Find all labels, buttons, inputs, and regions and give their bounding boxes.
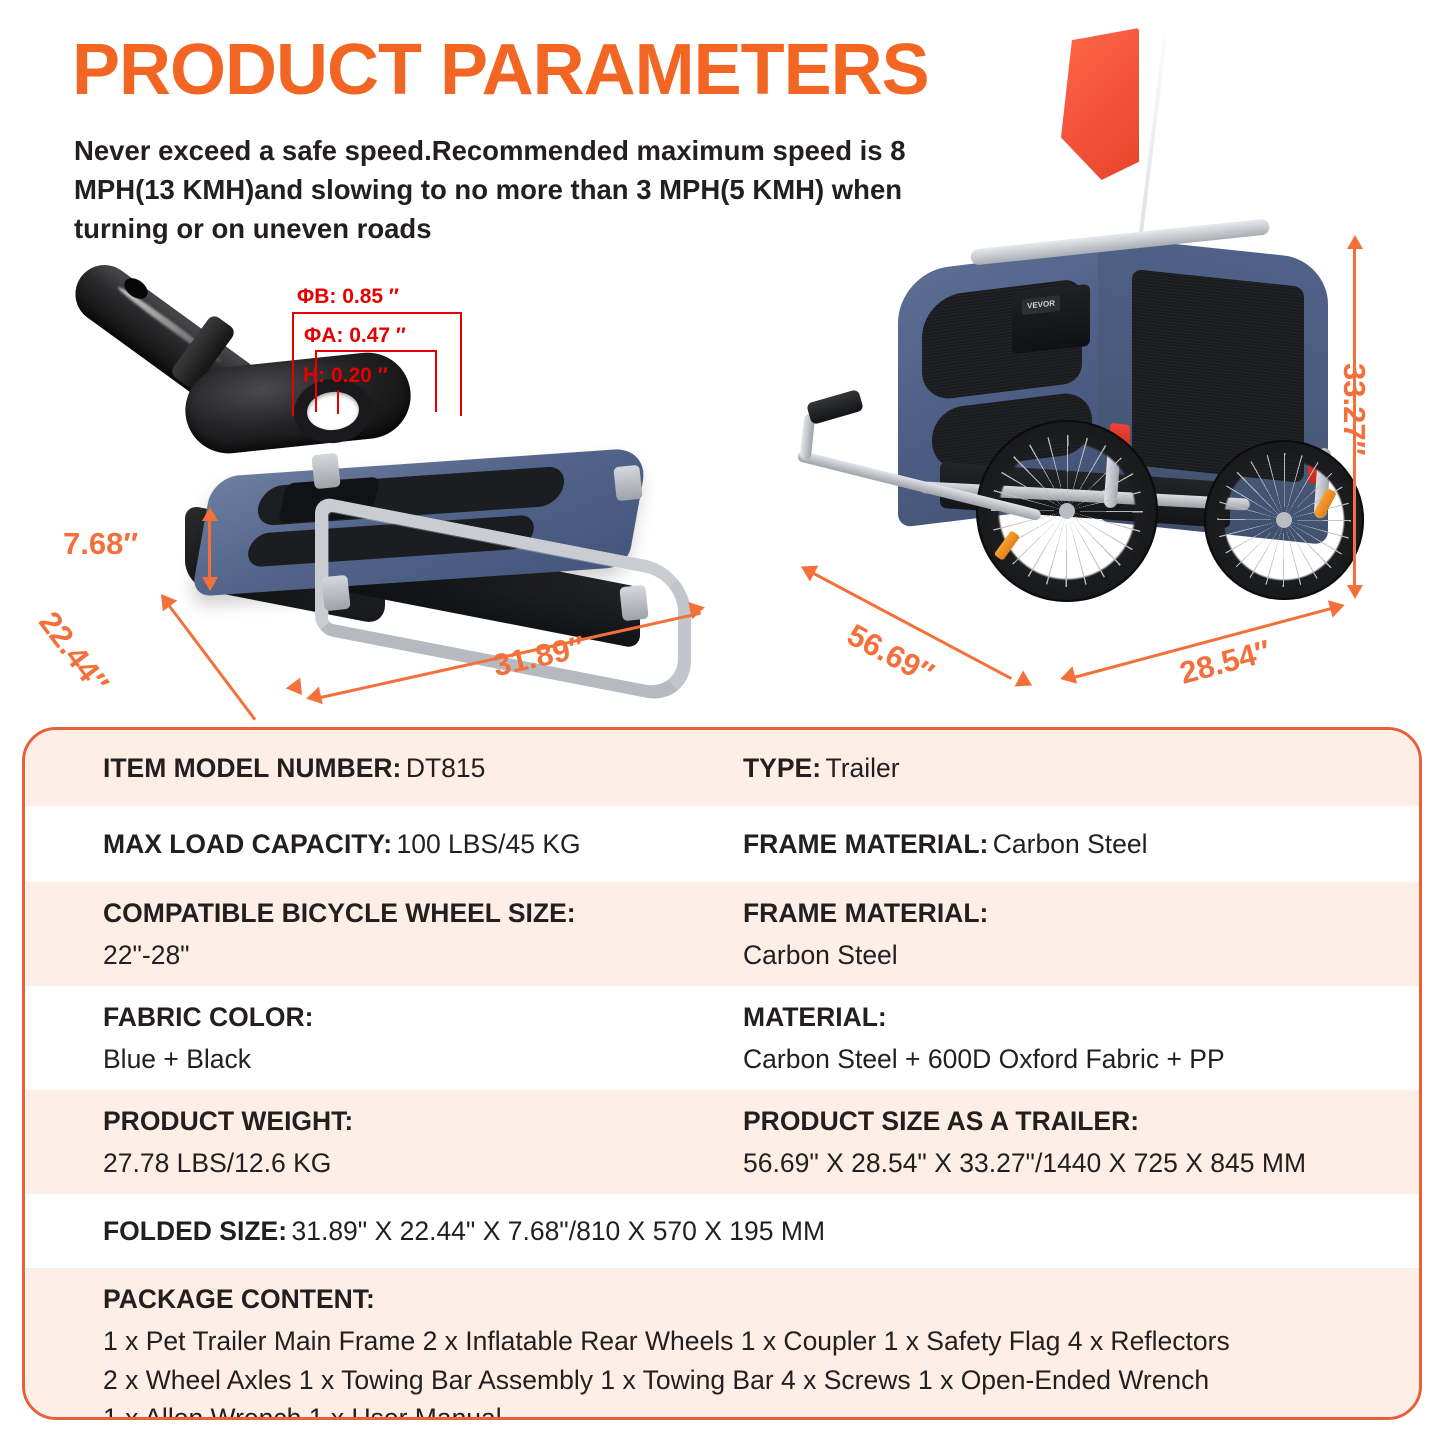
spec-label: FOLDED SIZE:	[103, 1216, 287, 1246]
coupler-ob-rule	[292, 312, 462, 314]
spec-value: DT815	[406, 753, 486, 783]
spec-label: MATERIAL:	[743, 1002, 1389, 1033]
coupler-inner-diameter-label: ΦA: 0.47 ″	[304, 324, 406, 348]
spec-label: ITEM MODEL NUMBER:	[103, 753, 401, 783]
trailer-wheel-rear	[1204, 440, 1364, 600]
folded-height-label: 7.68″	[63, 526, 138, 562]
trailer-hitch-coupler	[806, 389, 864, 425]
spec-value: Trailer	[826, 753, 900, 783]
spec-cell-product-weight: PRODUCT WEIGHT: 27.78 LBS/12.6 KG	[103, 1106, 743, 1179]
coupler-outer-diameter-label: ΦB: 0.85 ″	[297, 285, 399, 309]
spec-cell-fabric-color: FABRIC COLOR: Blue + Black	[103, 1002, 743, 1075]
package-content-line-1: 1 x Pet Trailer Main Frame 2 x Inflatabl…	[103, 1322, 1389, 1361]
coupler-h-tick	[337, 390, 339, 414]
spec-value: 22"-28"	[103, 940, 743, 971]
coupler-ob-tick-left	[292, 312, 294, 416]
spec-value: Carbon Steel + 600D Oxford Fabric + PP	[743, 1044, 1389, 1075]
spec-cell-frame-material: FRAME MATERIAL: Carbon Steel	[743, 829, 1389, 860]
spec-cell-trailer-size: PRODUCT SIZE AS A TRAILER: 56.69" X 28.5…	[743, 1106, 1389, 1179]
spec-value: 31.89" X 22.44" X 7.68"/810 X 570 X 195 …	[291, 1216, 825, 1246]
spec-value: 56.69" X 28.54" X 33.27"/1440 X 725 X 84…	[743, 1148, 1389, 1179]
folded-clip-bottom-left	[321, 575, 350, 612]
spec-row-package-content: PACKAGE CONTENT: 1 x Pet Trailer Main Fr…	[25, 1268, 1419, 1420]
package-content-label: PACKAGE CONTENT:	[103, 1284, 1389, 1315]
spec-cell-model: ITEM MODEL NUMBER: DT815	[103, 753, 743, 784]
spec-row-product-weight: PRODUCT WEIGHT: 27.78 LBS/12.6 KG PRODUC…	[25, 1090, 1419, 1194]
spec-cell-frame-material-2: FRAME MATERIAL: Carbon Steel	[743, 898, 1389, 971]
coupler-ob-tick-right	[460, 312, 462, 416]
coupler-ia-rule	[315, 350, 437, 352]
trailer-storage-pouch: VEVOR	[1012, 284, 1090, 354]
folded-width-label: 22.44″	[31, 605, 115, 700]
spec-label: COMPATIBLE BICYCLE WHEEL SIZE:	[103, 898, 743, 929]
spec-label: FRAME MATERIAL:	[743, 829, 988, 859]
product-illustrations: ΦB: 0.85 ″ ΦA: 0.47 ″ H: 0.20 ″ 7.68″ 22…	[0, 225, 1445, 720]
package-content-line-3: 1 x Allen Wrench 1 x User Manual	[103, 1399, 1389, 1420]
spec-cell-material: MATERIAL: Carbon Steel + 600D Oxford Fab…	[743, 1002, 1389, 1075]
spec-value: 100 LBS/45 KG	[396, 829, 580, 859]
brand-tag: VEVOR	[1022, 295, 1060, 315]
spec-label: FABRIC COLOR:	[103, 1002, 743, 1033]
trailer-height-label: 33.27″	[1336, 363, 1372, 455]
package-content-line-2: 2 x Wheel Axles 1 x Towing Bar Assembly …	[103, 1361, 1389, 1400]
folded-clip-top-right	[613, 465, 642, 502]
spec-cell-package-content: PACKAGE CONTENT: 1 x Pet Trailer Main Fr…	[103, 1284, 1389, 1420]
spec-row-model: ITEM MODEL NUMBER: DT815 TYPE: Trailer	[25, 730, 1419, 806]
spec-row-fabric-color: FABRIC COLOR: Blue + Black MATERIAL: Car…	[25, 986, 1419, 1090]
spec-row-max-load: MAX LOAD CAPACITY: 100 LBS/45 KG FRAME M…	[25, 806, 1419, 882]
spec-value: Blue + Black	[103, 1044, 743, 1075]
spec-label: FRAME MATERIAL:	[743, 898, 1389, 929]
folded-clip-top-left	[311, 453, 340, 490]
coupler-illustration: ΦB: 0.85 ″ ΦA: 0.47 ″ H: 0.20 ″	[75, 240, 405, 455]
spec-label: MAX LOAD CAPACITY:	[103, 829, 392, 859]
spec-cell-folded-size: FOLDED SIZE: 31.89" X 22.44" X 7.68"/810…	[103, 1216, 1389, 1247]
spec-label: TYPE:	[743, 753, 821, 783]
coupler-ia-tick-right	[435, 350, 437, 412]
spec-row-wheel-size: COMPATIBLE BICYCLE WHEEL SIZE: 22"-28" F…	[25, 882, 1419, 986]
folded-clip-bottom-right	[619, 585, 648, 622]
spec-value: Carbon Steel	[993, 829, 1148, 859]
safety-flag	[1061, 28, 1139, 180]
spec-row-folded-size: FOLDED SIZE: 31.89" X 22.44" X 7.68"/810…	[25, 1194, 1419, 1268]
spec-value: Carbon Steel	[743, 940, 1389, 971]
spec-cell-max-load: MAX LOAD CAPACITY: 100 LBS/45 KG	[103, 829, 743, 860]
spec-value: 27.78 LBS/12.6 KG	[103, 1148, 743, 1179]
spec-label: PRODUCT WEIGHT:	[103, 1106, 743, 1137]
folded-trailer-illustration	[165, 440, 700, 680]
spec-cell-wheel-size: COMPATIBLE BICYCLE WHEEL SIZE: 22"-28"	[103, 898, 743, 971]
spec-label: PRODUCT SIZE AS A TRAILER:	[743, 1106, 1389, 1137]
spec-cell-type: TYPE: Trailer	[743, 753, 1389, 784]
coupler-thickness-label: H: 0.20 ″	[303, 364, 388, 388]
specification-table: ITEM MODEL NUMBER: DT815 TYPE: Trailer M…	[22, 727, 1422, 1420]
